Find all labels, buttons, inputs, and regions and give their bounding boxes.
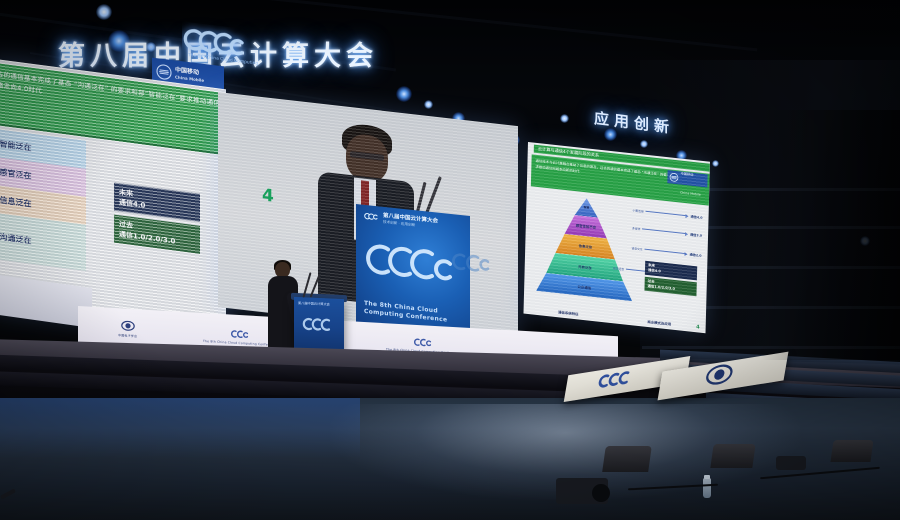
organization-seal-icon: [702, 362, 736, 389]
equipment-case: [776, 456, 806, 470]
camera-lens: [592, 484, 610, 502]
right-slide-page-number: 4: [696, 324, 700, 330]
footer-label: 商业模式及应用: [647, 319, 671, 327]
arrow-target: 通信3.0: [690, 232, 702, 238]
center-slide-page-number: 4: [262, 185, 274, 206]
china-mobile-name-en: China Mobile: [680, 190, 701, 196]
timeline-box-past: 过去 通信1.0/2.0/3.0: [114, 215, 200, 254]
floor-blue-light: [0, 398, 360, 458]
stage-monitor: [830, 440, 873, 462]
ccc-cloud-logo-faint: [452, 250, 492, 280]
pyramid-arrow: 多媒体 通信3.0: [632, 225, 702, 238]
backdrop-header: 第八届中国云计算大会 技术创新 · 应用创新: [364, 211, 438, 231]
organization-seal-icon: [120, 320, 136, 333]
ccc-cloud-logo-icon: [413, 337, 433, 349]
footer-label: 通信系统特征: [558, 309, 578, 316]
left-slide-boxes: 未来 通信4.0 过去 通信1.0/2.0/3.0: [114, 183, 200, 258]
timeline-box-past: 过去 通信1.0/2.0/3.0: [644, 277, 696, 297]
level-label: 感官泛在: [0, 166, 32, 181]
china-mobile-name-cn: 中国移动: [681, 171, 694, 176]
arrow-note: 多媒体: [632, 226, 641, 231]
ccc-cloud-logo-icon: [594, 367, 638, 394]
conference-stage-photo: 第八届中国云计算大会 应用创新 The 8th China Cloud Comp…: [0, 0, 900, 520]
wall-logo-caption: 中国电子学会: [118, 333, 137, 338]
arrow-note: 小量连接: [632, 208, 643, 213]
podium-ccc-logo: [302, 315, 336, 336]
wall-logo-seal: 中国电子学会: [118, 320, 137, 338]
pyramid-chart: 智慧 感官体验不在 信息泛在 开放泛在 公众通信: [536, 193, 635, 301]
level-label: 智能泛在: [0, 138, 32, 153]
pyramid-arrow: 语音交互 通信2.0: [631, 245, 701, 258]
right-slide-footer: 通信系统特征 商业模式及应用: [524, 306, 706, 331]
level-label: 信息泛在: [0, 194, 32, 209]
ccc-cloud-logo-icon: [230, 329, 250, 341]
arrow-target: 通信4.0: [690, 214, 702, 220]
water-bottle: [703, 478, 711, 498]
right-presentation-screen: 云计算与通信4个发展阶段的关系 通信技术与云计算融合推动了信息的普及，过去的通信…: [523, 142, 710, 333]
stage-light: [96, 4, 112, 20]
stage-monitor: [602, 446, 652, 472]
cccc-big-logo: [366, 239, 458, 291]
right-slide-boxes: 未来 通信4.0 过去 通信1.0/2.0/3.0: [644, 261, 697, 299]
pyramid-arrow: 小量连接 通信4.0: [632, 207, 702, 220]
podium-header-text: 第八届中国云计算大会: [298, 301, 330, 306]
arrow-target: 通信2.0: [689, 252, 701, 258]
bottle-cap: [704, 475, 710, 479]
arrow-note: 语音交互: [631, 246, 642, 251]
arrow-note: 固定话音: [613, 266, 624, 271]
china-mobile-mark: [669, 172, 678, 182]
stage-right-shadow: [760, 110, 900, 360]
china-mobile-mark: [156, 63, 172, 81]
stage-monitor: [710, 444, 755, 468]
level-label: 沟通泛在: [0, 231, 32, 246]
ccc-cloud-logo-small: [364, 211, 380, 225]
left-slide-level-list: → 智能泛在 → 感官泛在 → 信息泛在 → 沟通泛在: [0, 127, 86, 271]
